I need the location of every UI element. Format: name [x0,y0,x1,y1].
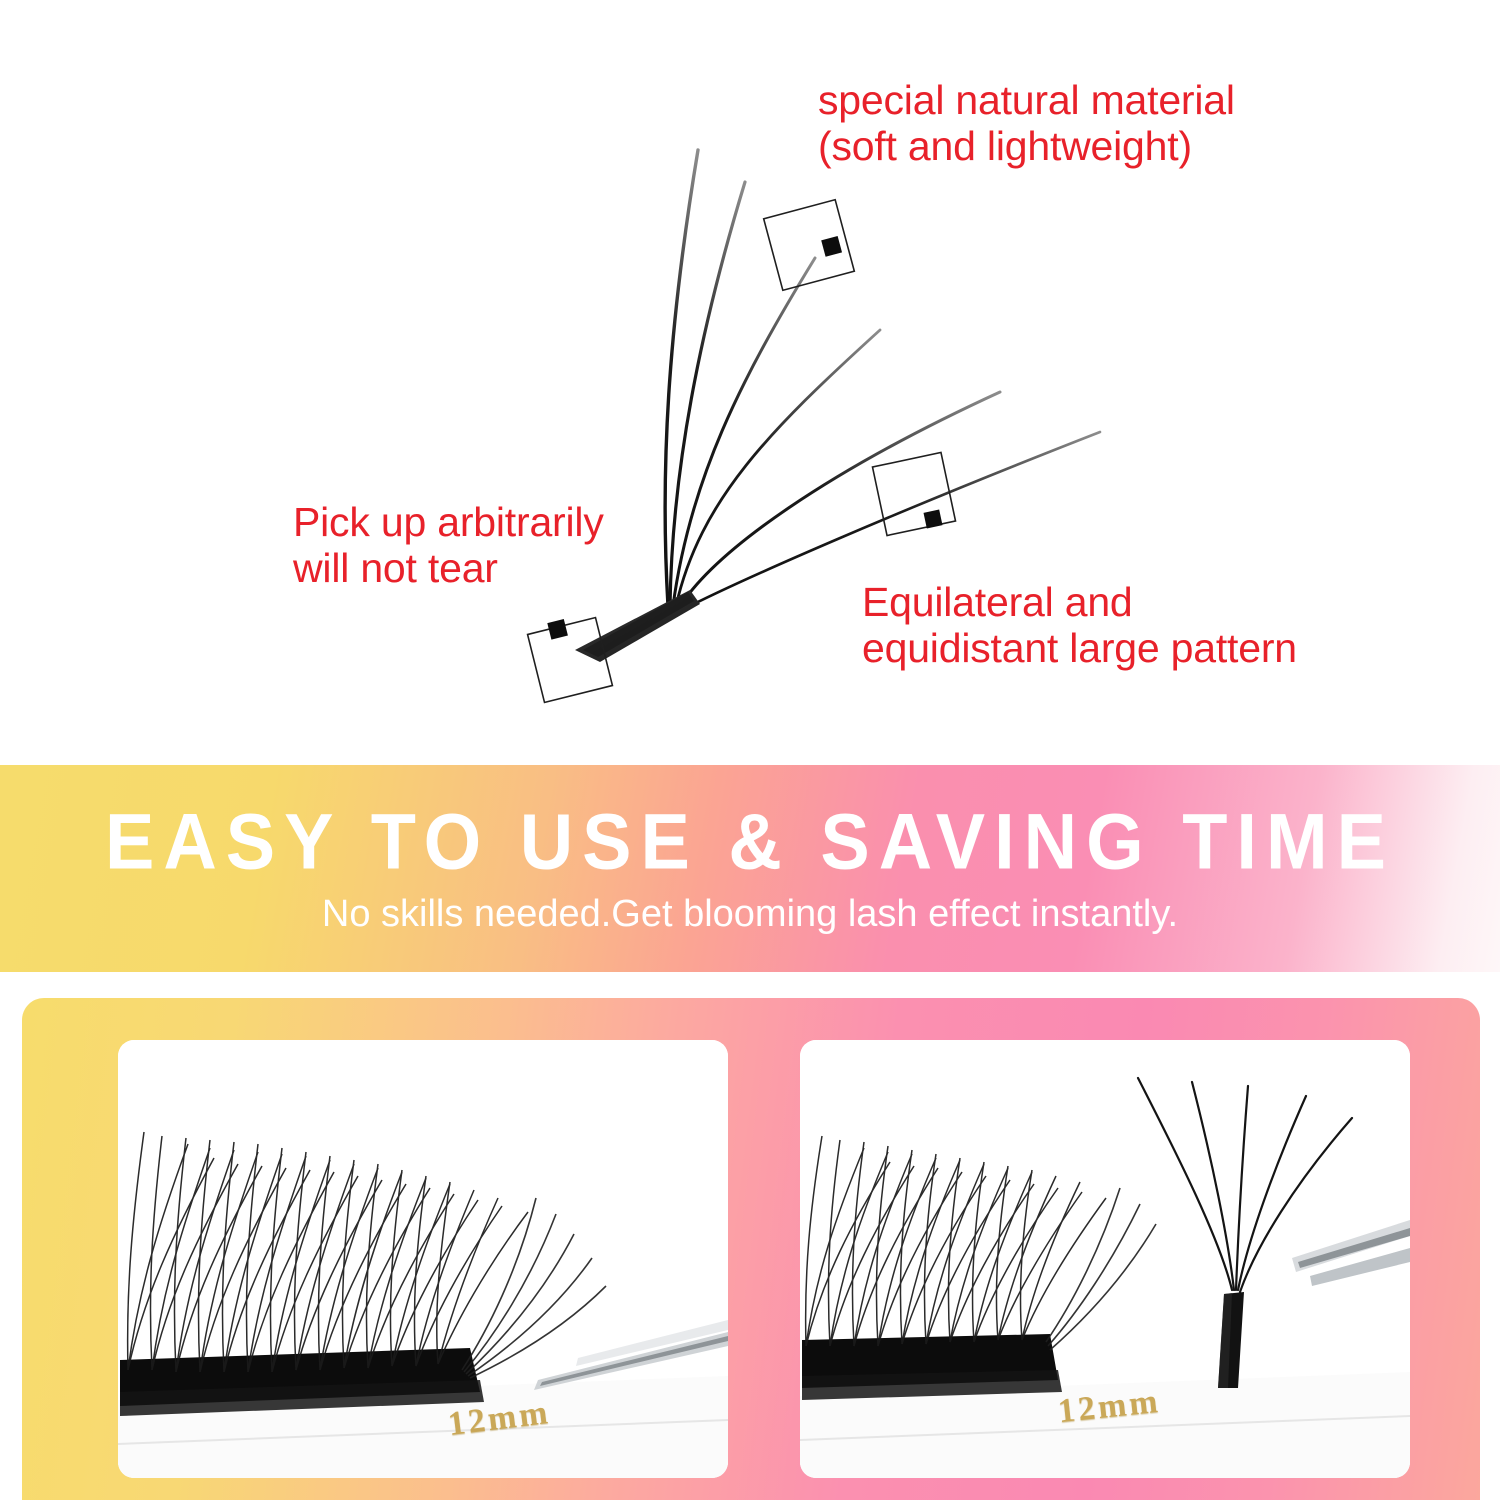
marker-square-top [764,200,855,291]
lash-tray-photo [118,1040,728,1478]
callout-equilateral-equidistant: Equilateral and equidistant large patter… [862,580,1297,672]
photo-card-single-fan: 12mm [800,1040,1410,1478]
callout-special-natural-material: special natural material (soft and light… [818,78,1235,170]
single-fan-photo [800,1040,1410,1478]
lash-fibers [665,150,1100,610]
lash-base [575,590,700,662]
banner-headline: EASY TO USE & SAVING TIME [105,802,1395,880]
diagram-section: special natural material (soft and light… [0,0,1500,765]
product-photo-panel: 12mm [22,998,1480,1500]
banner-subheadline: No skills needed.Get blooming lash effec… [322,895,1178,933]
photo-card-lash-tray: 12mm [118,1040,728,1478]
callout-pick-up-arbitrarily: Pick up arbitrarily will not tear [293,500,604,592]
feature-banner: EASY TO USE & SAVING TIME No skills need… [0,765,1500,972]
